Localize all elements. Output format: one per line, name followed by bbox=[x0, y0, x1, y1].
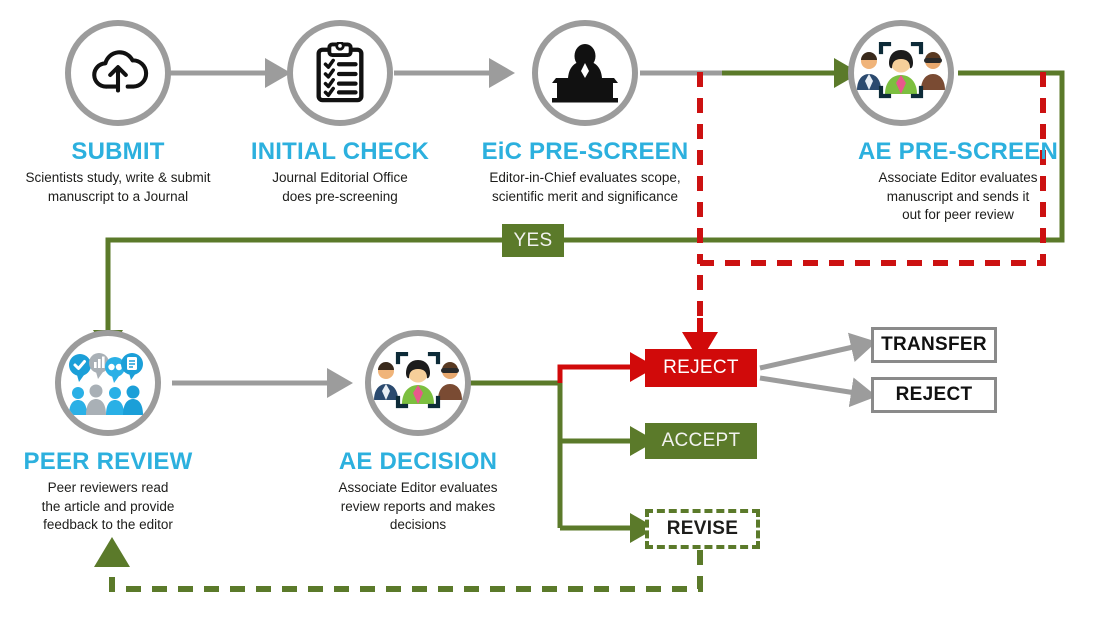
peer-review-title: PEER REVIEW bbox=[0, 449, 216, 474]
wire-revise-to-peer-review-dashed bbox=[112, 550, 700, 589]
initial-check-title: INITIAL CHECK bbox=[228, 139, 452, 164]
ae-pre-screen-description: Associate Editor evaluates manuscript an… bbox=[770, 169, 1100, 224]
eic-pre-screen-title: EiC PRE-SCREEN bbox=[452, 139, 718, 164]
label-reject-output-text: REJECT bbox=[896, 384, 973, 406]
label-revise[interactable]: REVISE bbox=[645, 509, 760, 549]
ae-decision-circle bbox=[365, 330, 471, 436]
eic-pre-screen-circle bbox=[532, 20, 638, 126]
node-initial-check[interactable]: INITIAL CHECK Journal Editorial Office d… bbox=[228, 20, 452, 206]
submit-description: Scientists study, write & submit manuscr… bbox=[8, 169, 228, 206]
node-eic-pre-screen[interactable]: EiC PRE-SCREEN Editor-in-Chief evaluates… bbox=[452, 20, 718, 206]
eic-pre-screen-description: Editor-in-Chief evaluates scope, scienti… bbox=[452, 169, 718, 206]
editor-at-desk-icon bbox=[548, 42, 622, 104]
submit-circle bbox=[65, 20, 171, 126]
three-people-focus-icon bbox=[855, 42, 947, 104]
ae-decision-description: Associate Editor evaluates review report… bbox=[300, 479, 536, 534]
three-people-focus-icon bbox=[372, 352, 464, 414]
clipboard-checklist-icon bbox=[312, 42, 368, 104]
label-accept[interactable]: ACCEPT bbox=[645, 423, 757, 459]
label-reject-output[interactable]: REJECT bbox=[871, 377, 997, 413]
reviewers-speech-bubbles-icon bbox=[67, 351, 149, 415]
label-reject-text: REJECT bbox=[663, 357, 739, 379]
submit-title: SUBMIT bbox=[8, 139, 228, 164]
initial-check-description: Journal Editorial Office does pre-screen… bbox=[228, 169, 452, 206]
flowchart-canvas: SUBMIT Scientists study, write & submit … bbox=[0, 0, 1100, 633]
node-ae-decision[interactable]: AE DECISION Associate Editor evaluates r… bbox=[300, 330, 536, 534]
peer-review-description: Peer reviewers read the article and prov… bbox=[0, 479, 216, 534]
cloud-upload-icon bbox=[87, 42, 149, 104]
ae-pre-screen-circle bbox=[848, 20, 954, 126]
node-peer-review[interactable]: PEER REVIEW Peer reviewers read the arti… bbox=[0, 330, 216, 534]
label-yes[interactable]: YES bbox=[502, 224, 564, 257]
label-transfer-text: TRANSFER bbox=[881, 334, 987, 356]
label-transfer-output[interactable]: TRANSFER bbox=[871, 327, 997, 363]
wire-ae-decision-to-reject bbox=[560, 367, 641, 383]
label-accept-text: ACCEPT bbox=[662, 430, 741, 452]
wire-reject-to-transfer bbox=[760, 345, 862, 368]
wire-reject-to-reject-out bbox=[760, 378, 862, 394]
label-revise-text: REVISE bbox=[667, 518, 739, 540]
label-yes-text: YES bbox=[514, 230, 553, 252]
ae-decision-title: AE DECISION bbox=[300, 449, 536, 474]
ae-pre-screen-title: AE PRE-SCREEN bbox=[770, 139, 1100, 164]
node-ae-pre-screen[interactable]: AE PRE-SCREEN Associate Editor evaluates… bbox=[770, 20, 1100, 224]
initial-check-circle bbox=[287, 20, 393, 126]
node-submit[interactable]: SUBMIT Scientists study, write & submit … bbox=[8, 20, 228, 206]
peer-review-circle bbox=[55, 330, 161, 436]
label-reject[interactable]: REJECT bbox=[645, 349, 757, 387]
